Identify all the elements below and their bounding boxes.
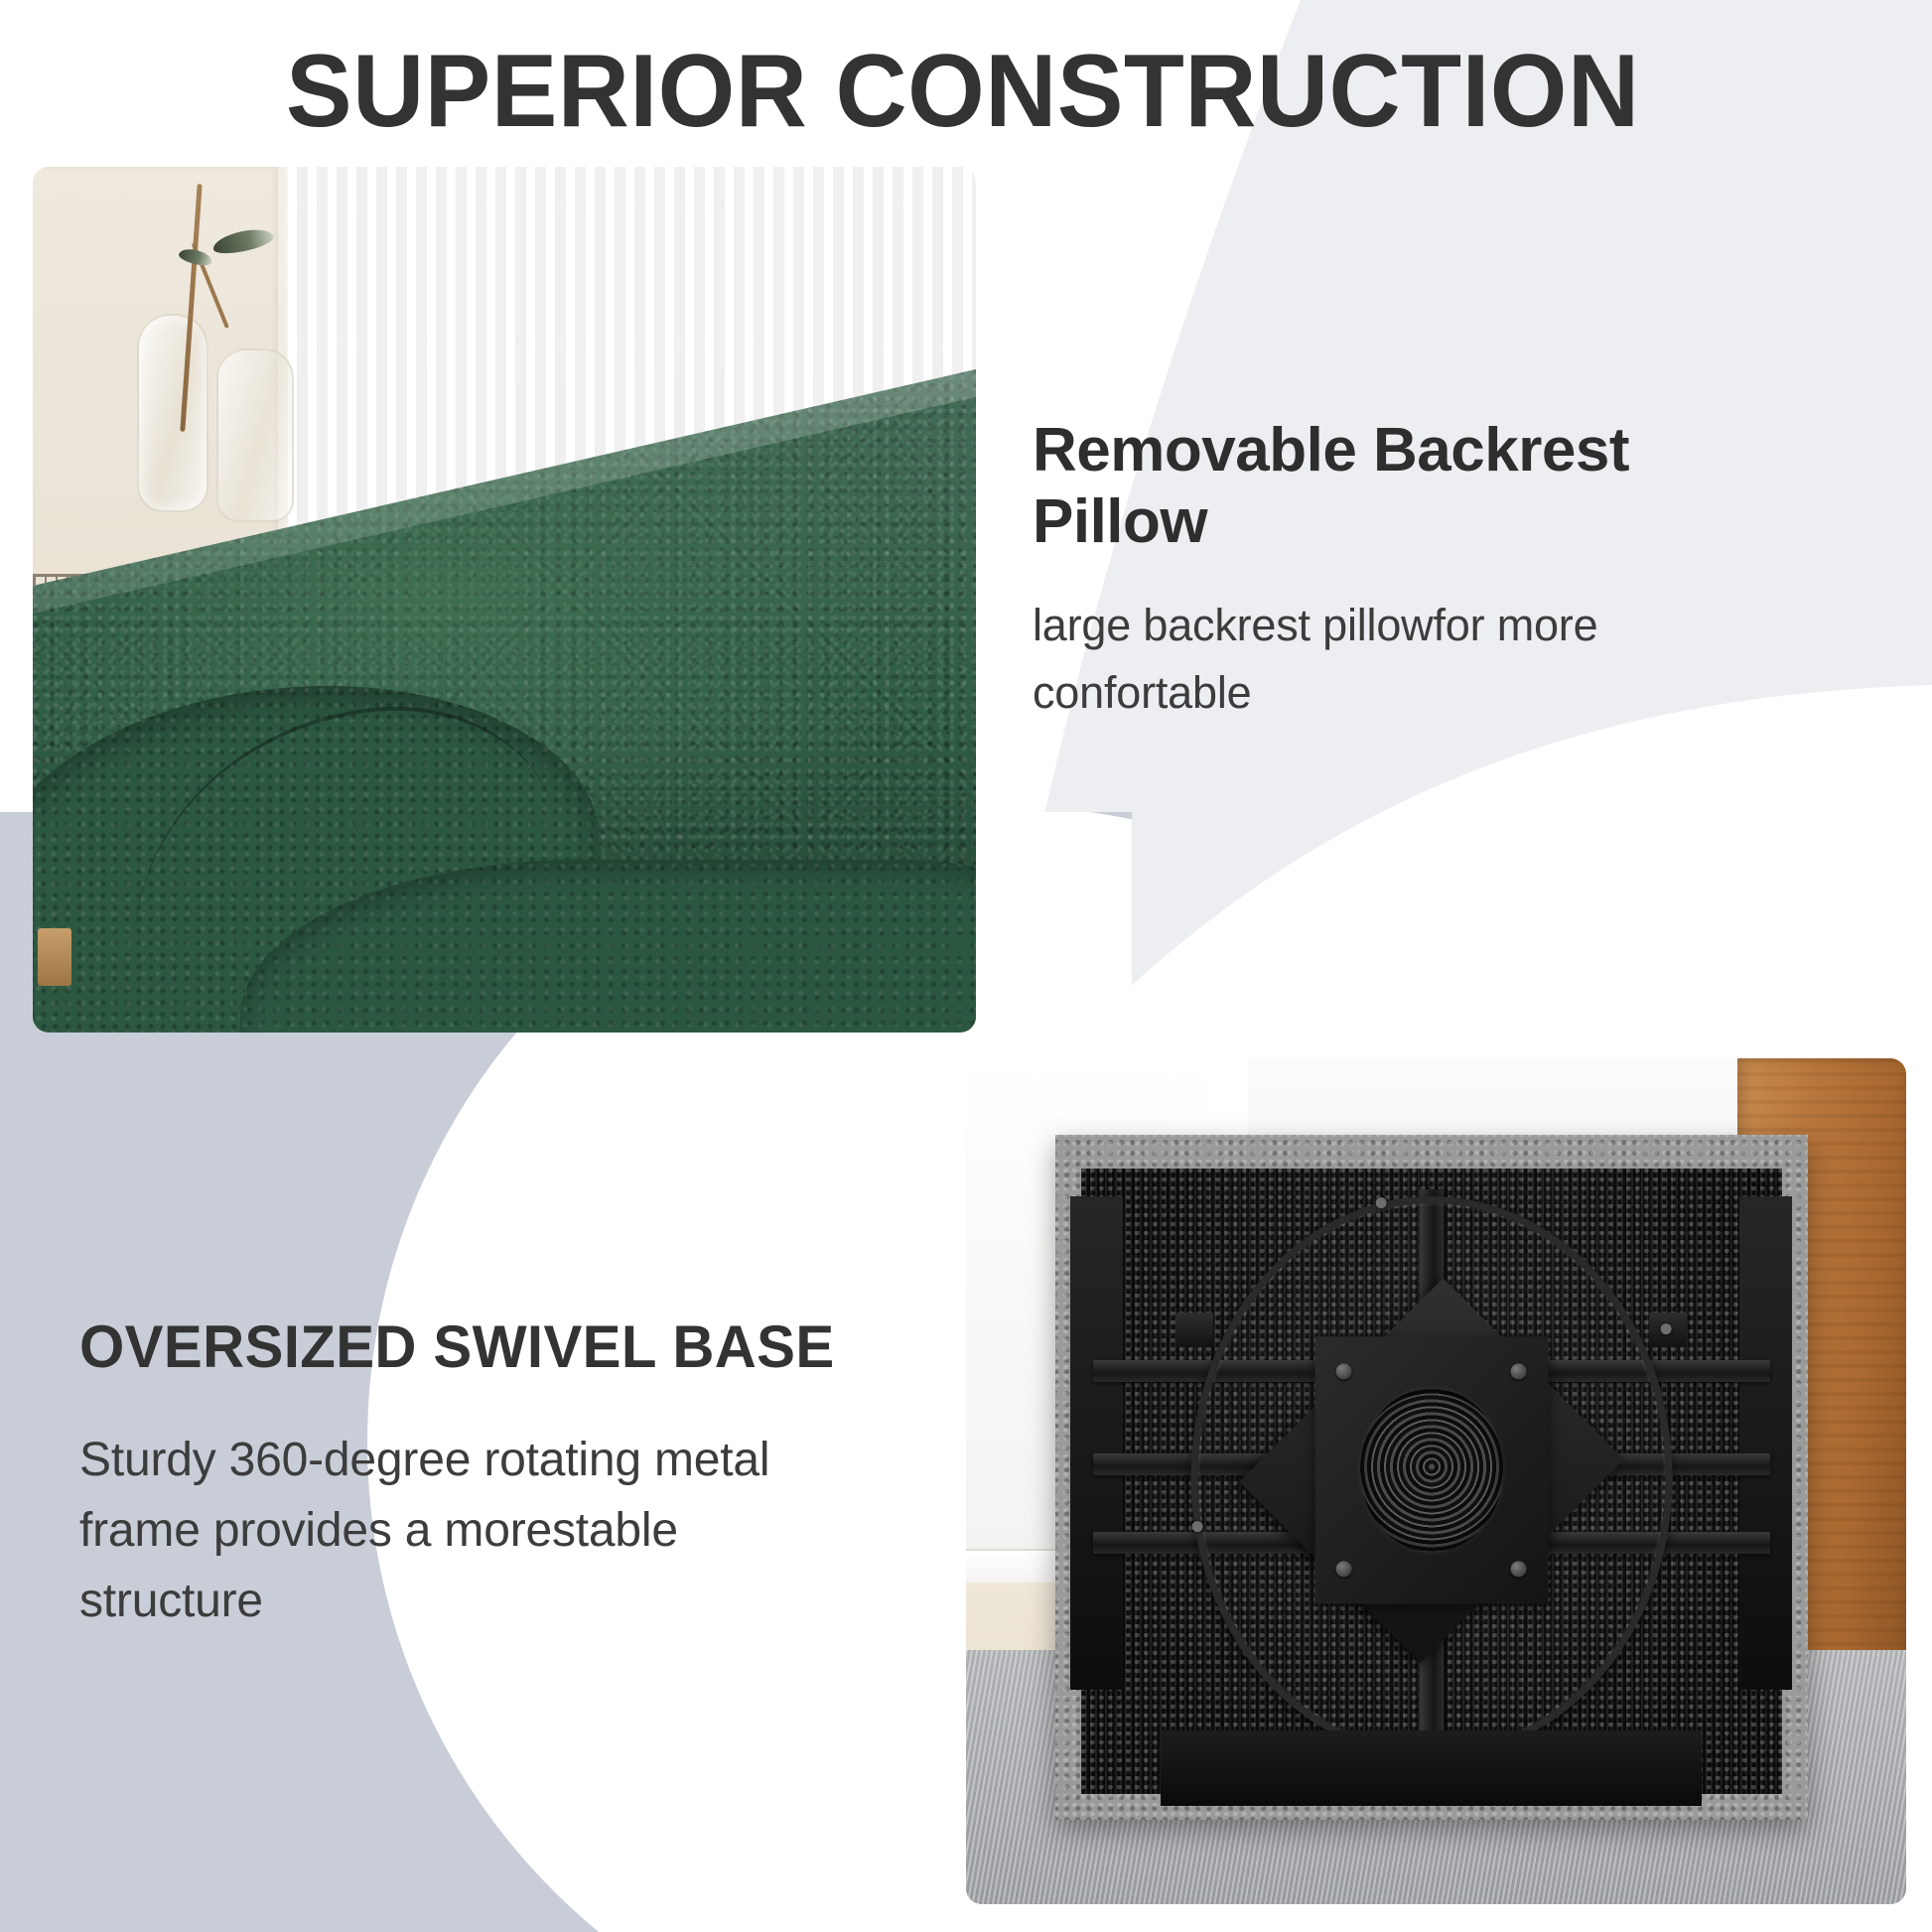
- feature-text-backrest-pillow: Removable Backrest Pillow large backrest…: [1033, 415, 1787, 728]
- corner-block-right: [1739, 1196, 1792, 1690]
- bracket-left: [1175, 1312, 1213, 1347]
- wooden-leg: [38, 928, 71, 986]
- feature-heading-backrest-pillow: Removable Backrest Pillow: [1033, 415, 1787, 558]
- bolt-bl: [1335, 1561, 1351, 1577]
- glass-vase-right: [216, 348, 294, 522]
- feature-body-swivel-base: Sturdy 360-degree rotating metal frame p…: [79, 1425, 774, 1636]
- feature-photo-backrest-pillow: [33, 167, 976, 1033]
- bolt-br: [1511, 1561, 1527, 1577]
- infographic-canvas: SUPERIOR CONSTRUCTION: [0, 0, 1932, 1932]
- feature-text-swivel-base: OVERSIZED SWIVEL BASE Sturdy 360-degree …: [79, 1312, 774, 1636]
- ring-rivet-top: [1375, 1197, 1386, 1208]
- feature-heading-swivel-base: OVERSIZED SWIVEL BASE: [79, 1312, 754, 1381]
- page-title: SUPERIOR CONSTRUCTION: [286, 30, 1640, 154]
- base-leg-block: [1161, 1730, 1702, 1806]
- feature-photo-swivel-base: [966, 1058, 1906, 1904]
- swivel-bearing-coil: [1360, 1388, 1503, 1553]
- chair-underside: [1055, 1135, 1808, 1820]
- corner-block-left: [1070, 1196, 1123, 1690]
- bolt-tl: [1335, 1363, 1351, 1379]
- glass-vase-left: [137, 314, 208, 512]
- ring-rivet-left: [1191, 1521, 1202, 1532]
- bolt-tr: [1511, 1363, 1527, 1379]
- feature-body-backrest-pillow: large backrest pillowfor more confortabl…: [1033, 592, 1787, 728]
